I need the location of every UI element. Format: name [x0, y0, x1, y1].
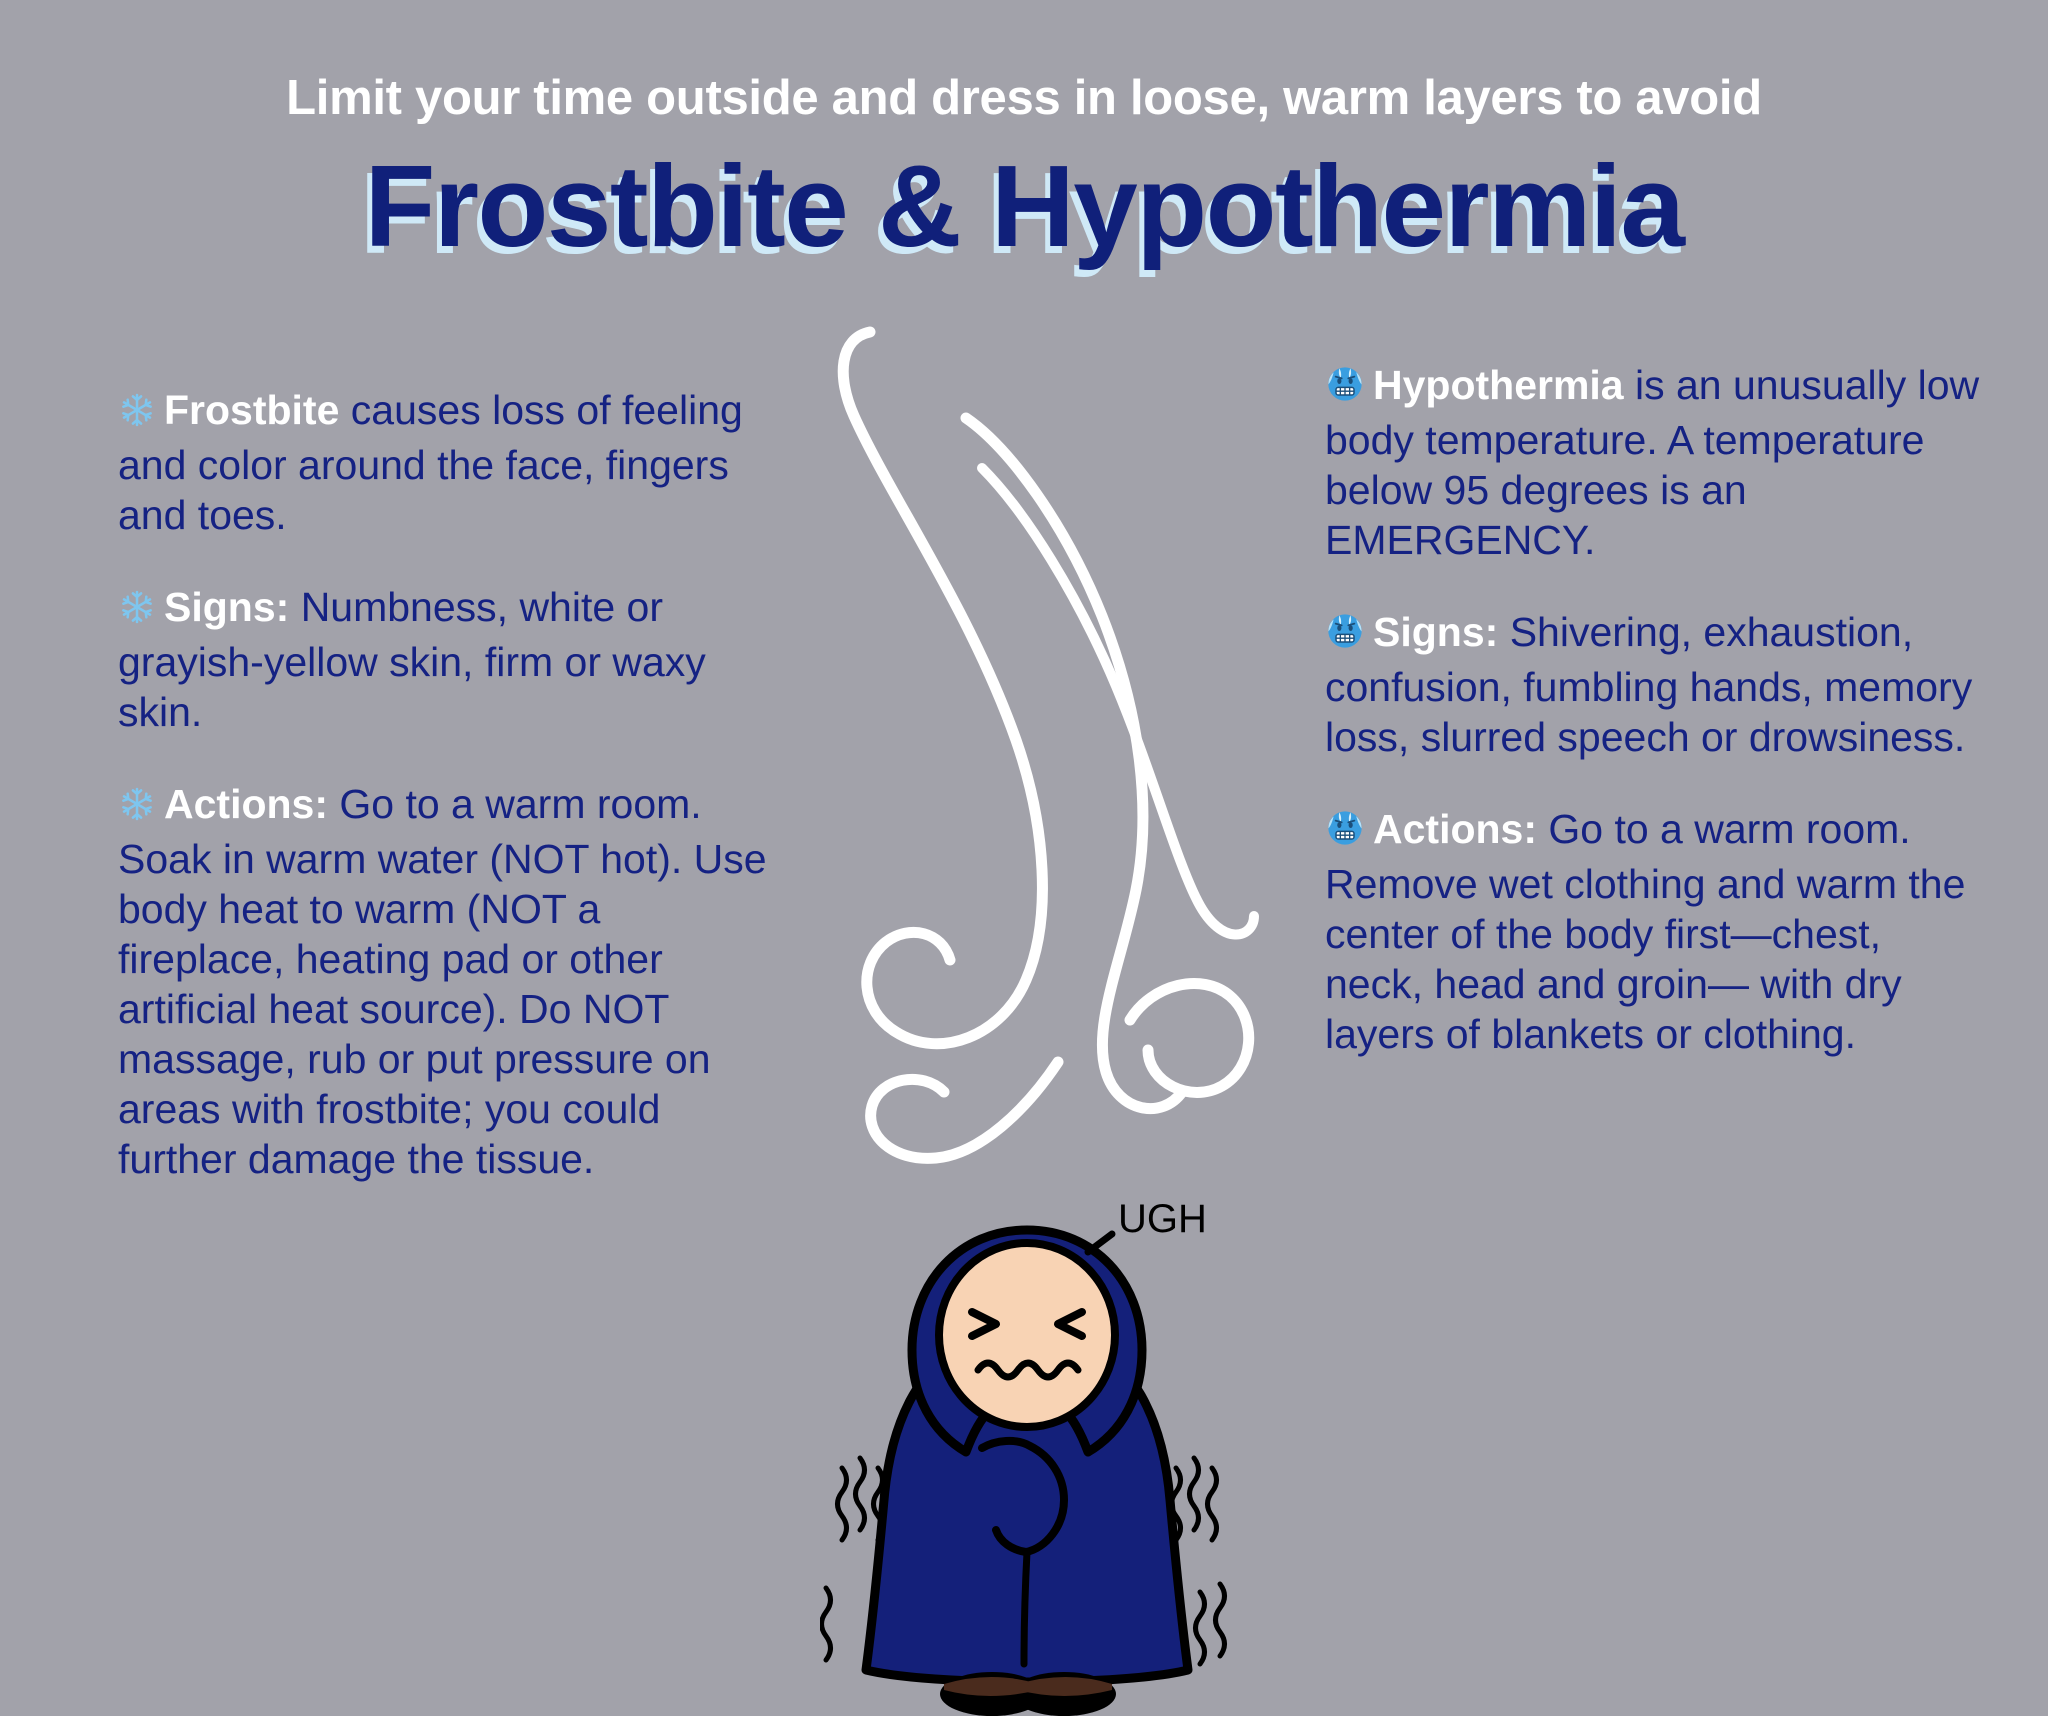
shoes: [940, 1672, 1116, 1716]
ugh-leader-line: [1088, 1234, 1112, 1252]
infographic-poster: Limit your time outside and dress in loo…: [0, 0, 2048, 1716]
paragraph-lead: Signs:: [164, 584, 289, 630]
hypothermia-paragraph-actions: Actions: Go to a warm room. Remove wet c…: [1325, 804, 1985, 1059]
shiver-lines-right-upper: [1172, 1458, 1217, 1540]
paragraph-lead: Signs:: [1373, 609, 1498, 655]
cold-face-icon: [1325, 808, 1365, 859]
paragraph-lead: Frostbite: [164, 387, 339, 433]
frostbite-column: Frostbite causes loss of feeling and col…: [118, 385, 778, 1184]
ugh-text: UGH: [1118, 1200, 1207, 1241]
paragraph-body: Go to a warm room. Soak in warm water (N…: [118, 781, 767, 1182]
snowflake-icon: [118, 587, 156, 637]
shiver-lines-left-upper: [838, 1458, 883, 1540]
frostbite-paragraph-definition: Frostbite causes loss of feeling and col…: [118, 385, 778, 540]
cold-face-icon: [1325, 611, 1365, 662]
paragraph-lead: Actions:: [1373, 806, 1537, 852]
shiver-lines-right-lower: [1196, 1584, 1225, 1664]
page-title: Frostbite & Hypothermia: [0, 148, 2048, 264]
blanket-center-seam: [1024, 1552, 1027, 1664]
snowflake-icon: [118, 784, 156, 834]
shivering-person-illustration: UGH: [820, 1200, 1240, 1716]
paragraph-lead: Actions:: [164, 781, 328, 827]
hypothermia-paragraph-definition: Hypothermia is an unusually low body tem…: [1325, 360, 1985, 565]
frostbite-paragraph-signs: Signs: Numbness, white or grayish-yellow…: [118, 582, 778, 737]
paragraph-lead: Hypothermia: [1373, 362, 1624, 408]
shiver-lines-left-lower: [822, 1588, 831, 1660]
hypothermia-column: Hypothermia is an unusually low body tem…: [1325, 360, 1985, 1059]
face: [939, 1243, 1115, 1427]
page-kicker: Limit your time outside and dress in loo…: [0, 70, 2048, 126]
cold-face-icon: [1325, 364, 1365, 415]
frostbite-paragraph-actions: Actions: Go to a warm room. Soak in warm…: [118, 779, 778, 1184]
snowflake-icon: [118, 390, 156, 440]
wind-swirl-decoration: [830, 320, 1260, 1210]
hypothermia-paragraph-signs: Signs: Shivering, exhaustion, confusion,…: [1325, 607, 1985, 762]
